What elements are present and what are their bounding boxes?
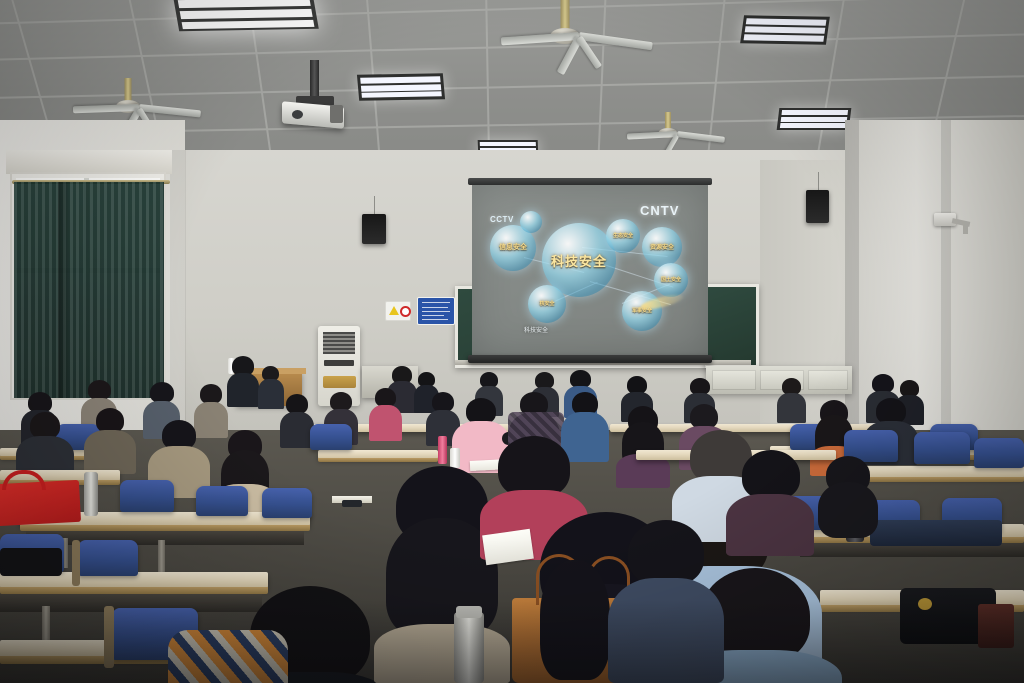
topic-bubble: 军事安全 — [622, 291, 662, 331]
black-bag — [0, 548, 62, 576]
ceiling-light-fixture — [777, 108, 852, 130]
ceiling-light-fixture — [173, 0, 319, 31]
silver-thermos — [84, 472, 98, 516]
chair — [974, 438, 1024, 468]
topic-bubble: 生态安全 — [606, 219, 640, 253]
water-bottle — [438, 436, 447, 464]
cntv-logo: CNTV — [640, 203, 679, 218]
ceiling-light-fixture — [740, 15, 830, 45]
cctv-logo: CCTV — [490, 215, 514, 224]
chair — [196, 486, 248, 516]
chair — [78, 540, 138, 576]
notice-board — [418, 298, 454, 324]
chalkboard — [705, 284, 759, 368]
navy-case — [870, 520, 1002, 546]
screen-bottom-bar — [468, 355, 712, 363]
topic-bubble: 核安全 — [528, 285, 566, 323]
window-curtain — [76, 182, 164, 398]
chair — [120, 480, 174, 512]
ceiling-light-fixture — [357, 73, 445, 101]
topic-bubble: 国土安全 — [654, 263, 688, 297]
chair — [310, 424, 352, 450]
topic-bubble: 资源安全 — [642, 227, 682, 267]
screen-case — [468, 178, 712, 185]
chair — [914, 432, 970, 464]
curtain-valance — [6, 150, 172, 174]
lecture-hall-photo: CCTV CNTV 信息安全 科技安全 生态安全 资源安全 国土安全 — [0, 0, 1024, 683]
screen-caption: 科技安全 — [524, 325, 548, 334]
projection-screen: CCTV CNTV 信息安全 科技安全 生态安全 资源安全 国土安全 — [472, 185, 708, 357]
warning-sign — [386, 302, 410, 320]
topic-bubble — [520, 211, 542, 233]
chair — [262, 488, 312, 518]
water-bottle — [450, 448, 460, 468]
phone — [342, 500, 362, 507]
